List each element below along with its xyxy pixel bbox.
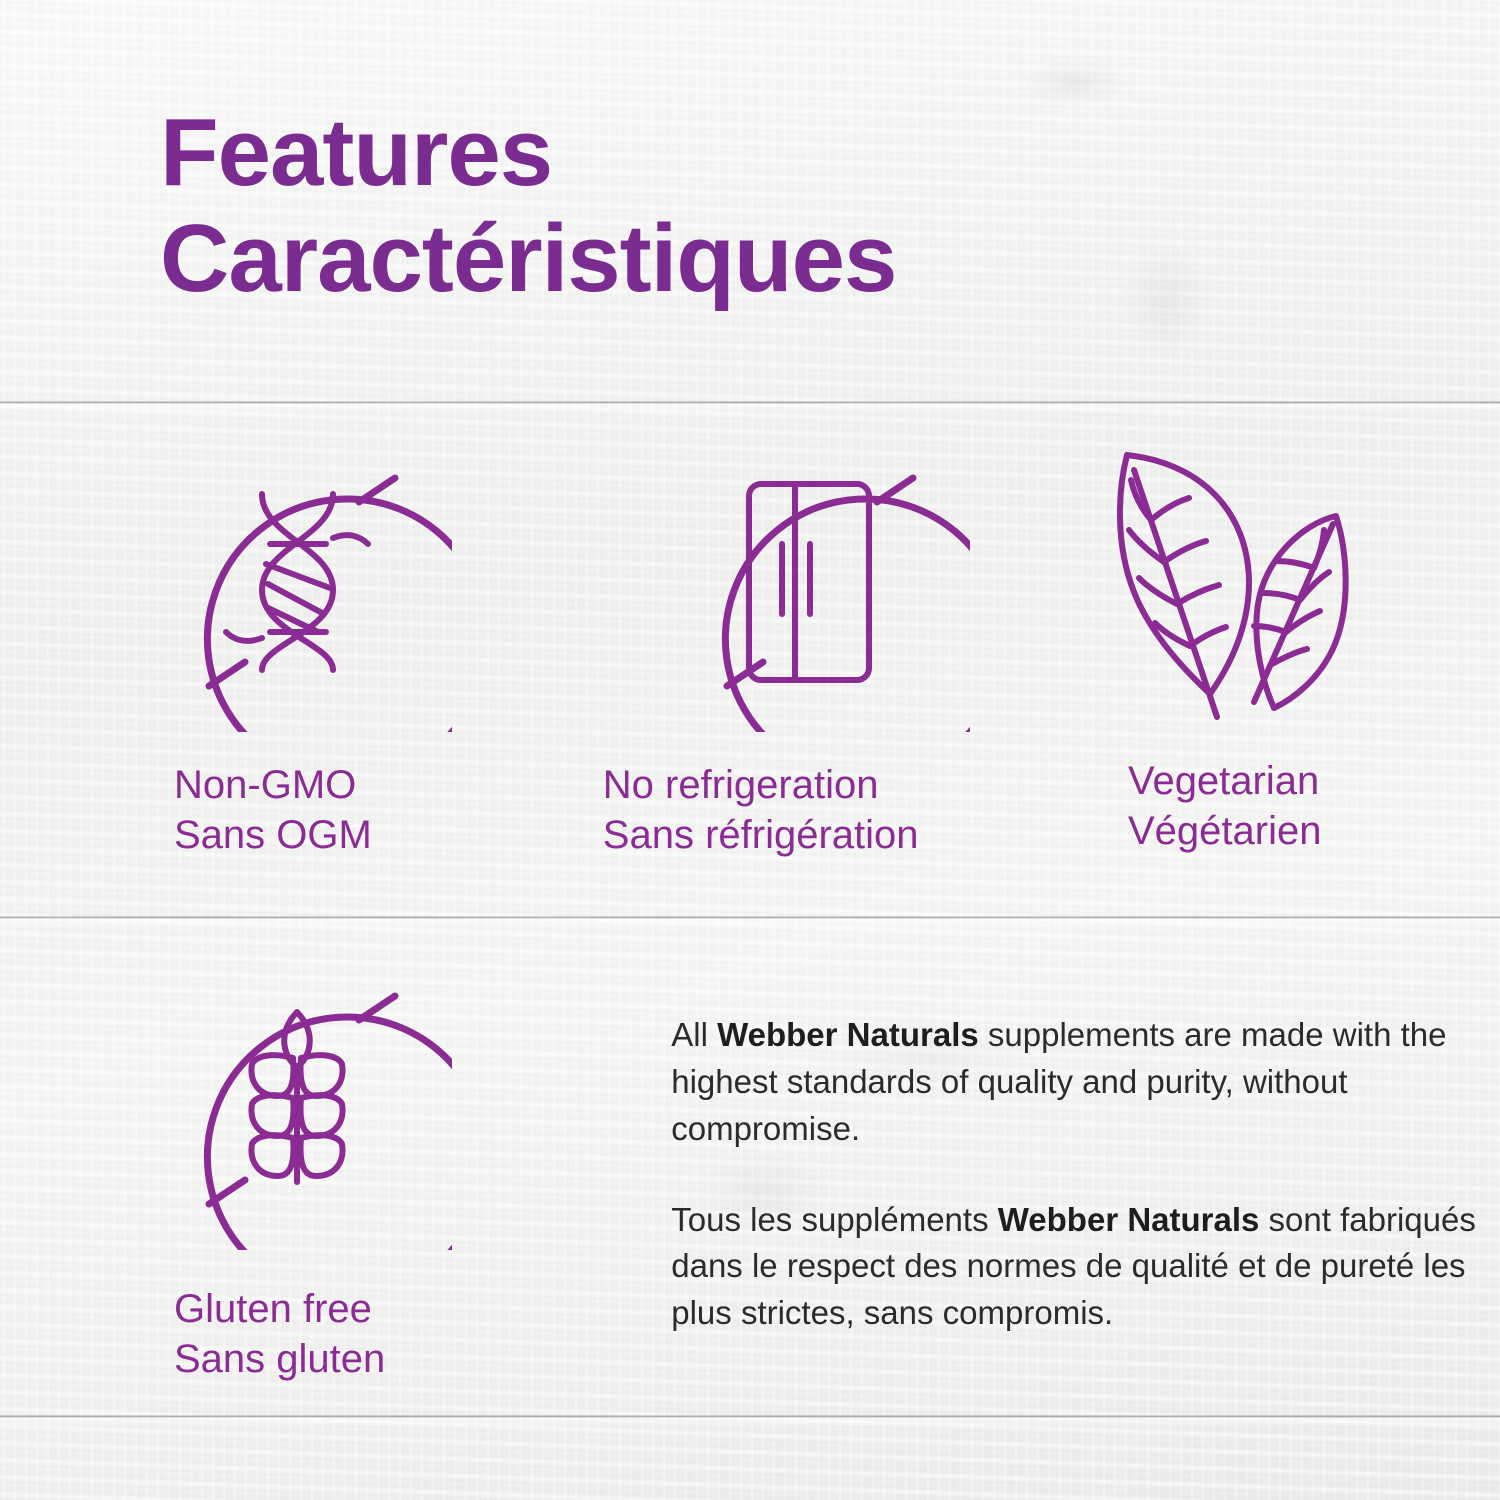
page-title-en: Features (160, 104, 1360, 202)
plank-seam (0, 916, 1500, 919)
no-wheat-icon (152, 950, 452, 1250)
feature-label-vegetarian: Vegetarian Végétarien (1128, 732, 1321, 857)
wood-knot (1020, 60, 1130, 106)
plank-seam (0, 1415, 1500, 1418)
feature-label-fr: Sans gluten (174, 1334, 385, 1384)
plank-seam (0, 401, 1500, 404)
leaves-icon (1088, 432, 1388, 732)
page-title-fr: Caractéristiques (160, 210, 1360, 308)
features-panel: Features Caractéristiques (0, 0, 1500, 1500)
copy-fr-before: Tous les suppléments (671, 1201, 998, 1238)
brand-copy-en: All Webber Naturals supplements are made… (671, 1012, 1500, 1153)
brand-copy-fr: Tous les suppléments Webber Naturals son… (671, 1197, 1500, 1338)
feature-label-no-refrigeration: No refrigeration Sans réfrigération (593, 732, 919, 861)
feature-no-refrigeration: No refrigeration Sans réfrigération (593, 432, 1048, 861)
brand-copy-block: All Webber Naturals supplements are made… (671, 950, 1500, 1337)
no-gmo-dna-icon (152, 432, 452, 732)
feature-label-en: No refrigeration (603, 760, 919, 810)
copy-en-before: All (671, 1016, 717, 1053)
feature-row-bottom: Gluten free Sans gluten All Webber Natur… (0, 950, 1500, 1385)
feature-label-non-gmo: Non-GMO Sans OGM (174, 732, 372, 861)
feature-row-top: Non-GMO Sans OGM No refrigeration (0, 432, 1500, 861)
feature-gluten-free: Gluten free Sans gluten (0, 950, 671, 1385)
feature-label-fr: Sans OGM (174, 810, 372, 860)
feature-label-fr: Végétarien (1128, 806, 1321, 856)
brand-name-fr: Webber Naturals (998, 1201, 1260, 1238)
feature-label-fr: Sans réfrigération (603, 810, 919, 860)
feature-label-gluten-free: Gluten free Sans gluten (174, 1284, 385, 1385)
feature-non-gmo: Non-GMO Sans OGM (0, 432, 593, 861)
no-refrigerator-icon (670, 432, 970, 732)
brand-name-en: Webber Naturals (717, 1016, 979, 1053)
feature-label-en: Non-GMO (174, 760, 372, 810)
feature-label-en: Gluten free (174, 1284, 385, 1334)
feature-label-en: Vegetarian (1128, 756, 1321, 806)
page-title: Features Caractéristiques (160, 104, 1360, 308)
feature-vegetarian: Vegetarian Végétarien (1048, 432, 1500, 857)
